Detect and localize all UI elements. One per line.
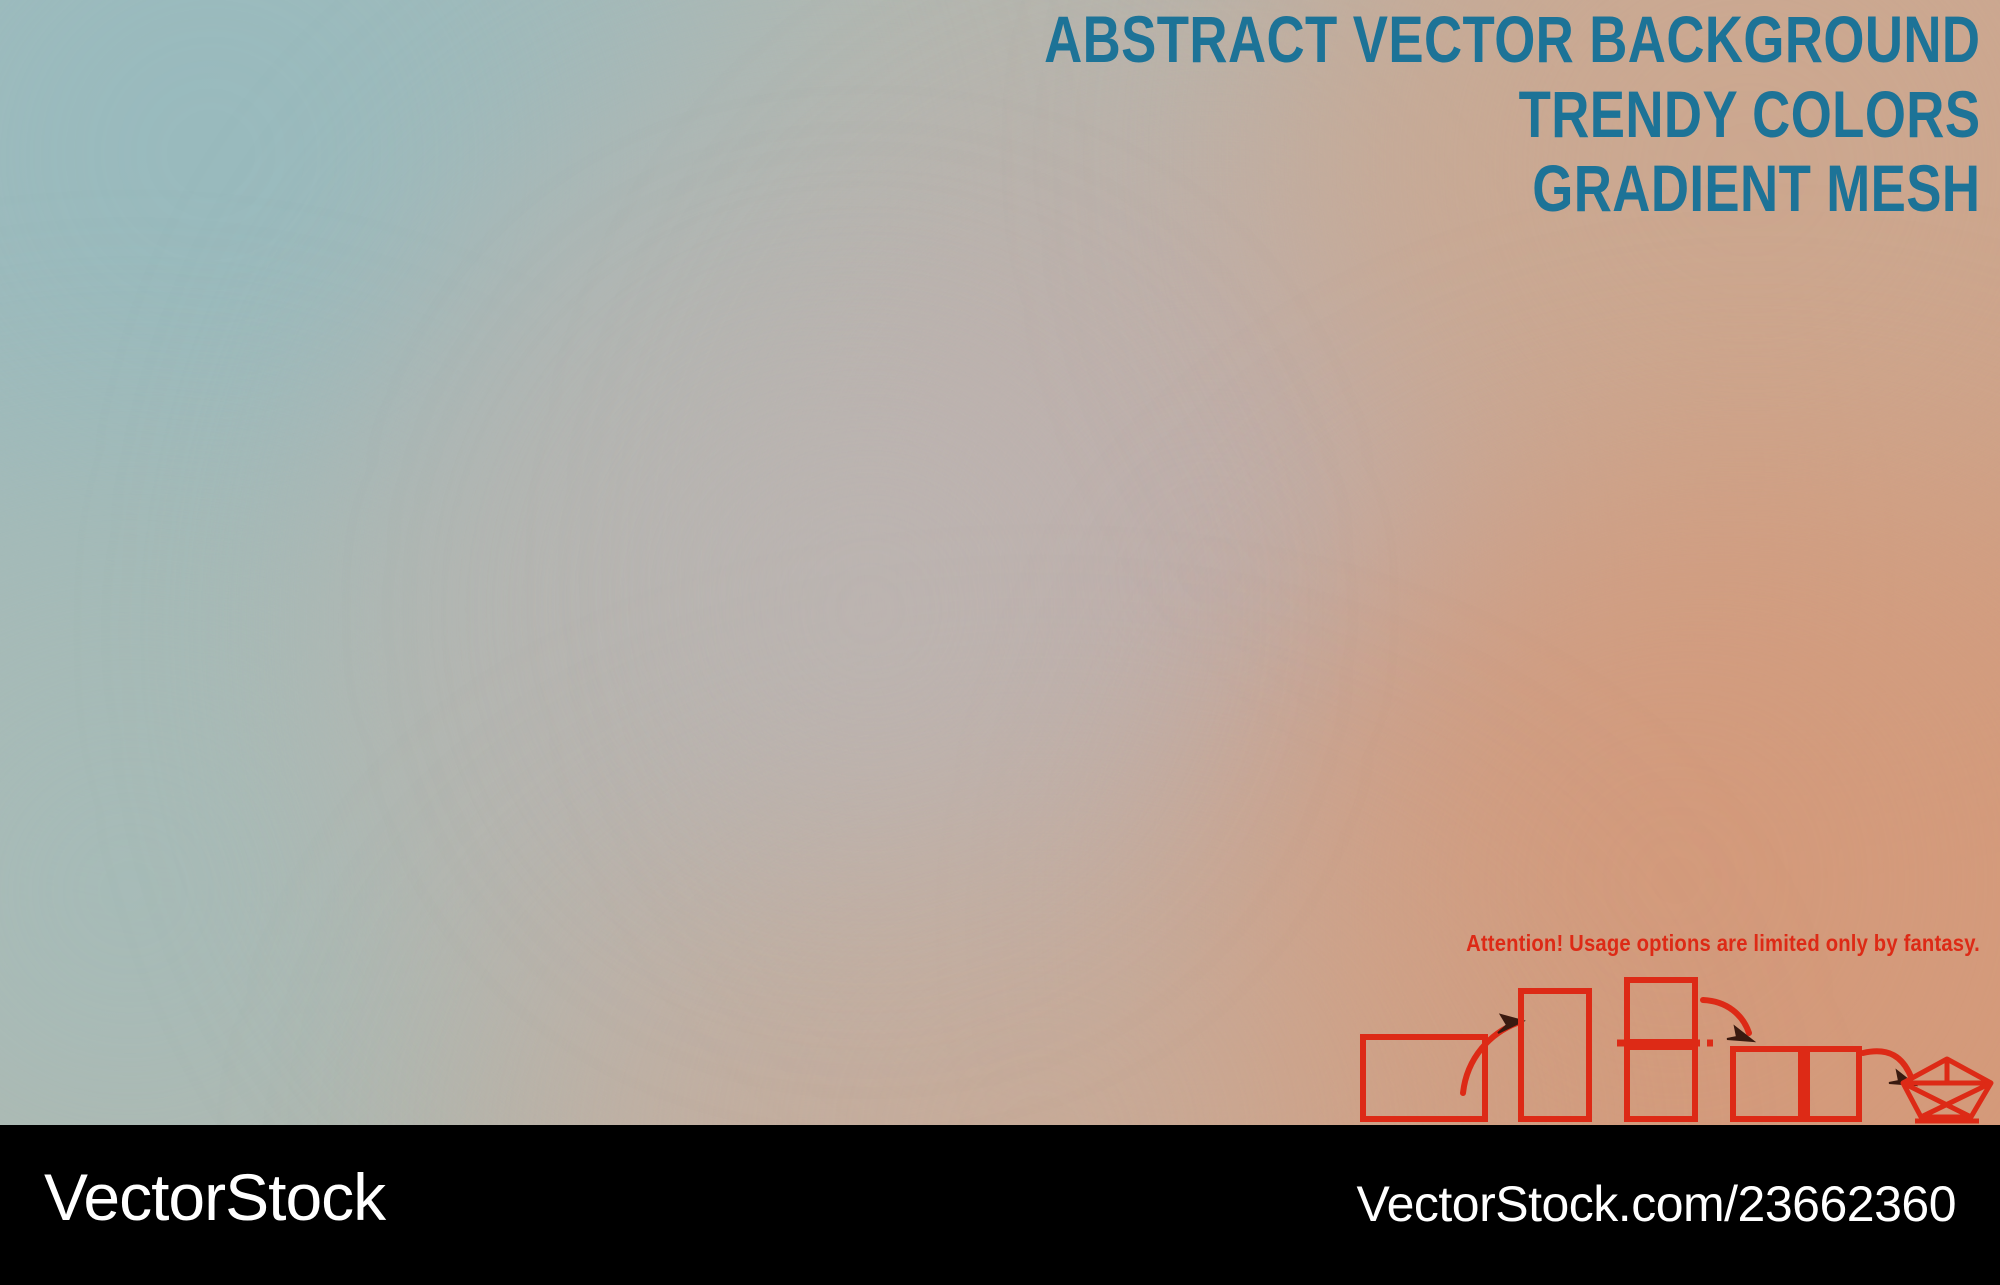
- headline-line-2: TRENDY COLORS: [1044, 83, 1980, 146]
- folding-arrow-3: [1863, 1051, 1911, 1077]
- vectorstock-logo: VectorStock: [44, 1159, 385, 1235]
- headline-line-1: ABSTRACT VECTOR BACKGROUND: [1044, 8, 1980, 71]
- headline-line-3: GRADIENT MESH: [1044, 157, 1980, 220]
- folding-step-sheet-upper-half: [1627, 980, 1695, 1042]
- attention-caption: Attention! Usage options are limited onl…: [1466, 930, 1980, 957]
- paper-boat-icon: [1903, 1059, 1991, 1121]
- vectorstock-url: VectorStock.com/23662360: [1357, 1175, 1957, 1233]
- screenshot-canvas: ABSTRACT VECTOR BACKGROUND TRENDY COLORS…: [0, 0, 2000, 1285]
- folding-diagram-svg: [1355, 975, 2000, 1125]
- folding-step-square-a: [1733, 1049, 1801, 1119]
- folding-step-square-b: [1807, 1049, 1859, 1119]
- folding-step-sheet-lower-half: [1627, 1047, 1695, 1119]
- headline-block: ABSTRACT VECTOR BACKGROUND TRENDY COLORS…: [810, 8, 1980, 232]
- mesh-blob-pale-middle: [560, 300, 1180, 920]
- paper-folding-diagram: [1355, 975, 2000, 1125]
- folding-arrow-1: [1463, 1023, 1517, 1093]
- artwork-area: ABSTRACT VECTOR BACKGROUND TRENDY COLORS…: [0, 0, 2000, 1125]
- folding-arrow-2: [1703, 1000, 1749, 1033]
- folding-step-sheet-portrait: [1521, 991, 1589, 1119]
- footer-bar: VectorStock VectorStock.com/23662360: [0, 1125, 2000, 1285]
